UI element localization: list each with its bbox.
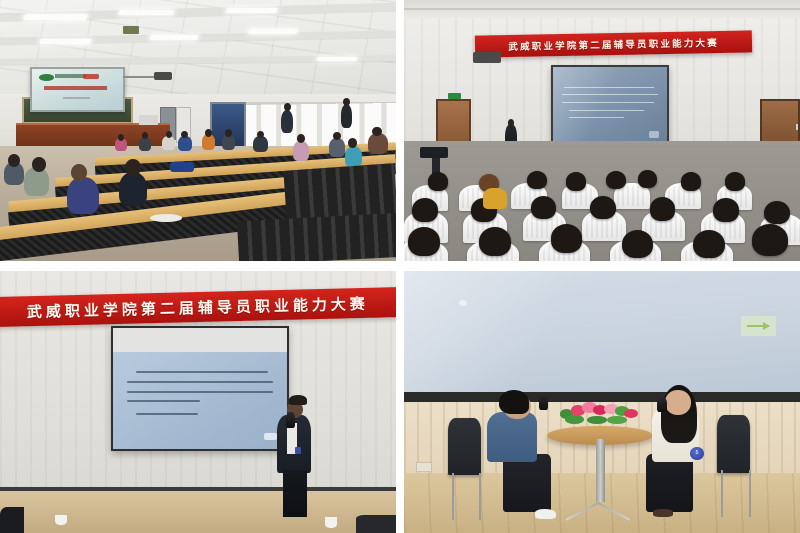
- person-head: [348, 138, 357, 147]
- presenter-legs: [283, 470, 307, 517]
- projector-arm: [123, 76, 159, 78]
- ceiling-line: [404, 8, 800, 10]
- chair-leg: [749, 470, 751, 517]
- college-logo-icon: [39, 74, 54, 81]
- ceiling-lamp: [118, 10, 175, 15]
- audience-head: [764, 201, 790, 224]
- projection-screen: [30, 67, 125, 113]
- table-pedestal: [596, 439, 605, 502]
- scene-role-play-interview: 5: [404, 271, 800, 533]
- contestant-number-text: 5: [696, 450, 699, 456]
- flower-arrangement: [554, 398, 645, 429]
- seated-student: [293, 141, 309, 161]
- ceiling-lamp: [39, 39, 92, 44]
- audience-head: [681, 172, 701, 190]
- audience-head: [622, 230, 654, 259]
- person-head: [8, 154, 20, 167]
- projection-screen: [551, 65, 670, 145]
- audience-head: [693, 230, 725, 259]
- seated-student: [253, 136, 267, 153]
- audience-head: [412, 198, 438, 221]
- slide-text-line: [562, 94, 658, 95]
- ceiling-sign-icon: [123, 26, 139, 34]
- door-window: [796, 124, 798, 130]
- audience-head: [752, 224, 788, 255]
- slide-body: [113, 352, 287, 448]
- exit-sign-icon: [448, 93, 462, 99]
- microphone-left: [539, 394, 549, 410]
- slide-title-text: [44, 86, 108, 90]
- backpack: [170, 162, 194, 172]
- ceiling-lamp: [150, 35, 199, 40]
- wall-socket: [416, 462, 432, 472]
- event-banner-text: 武威职业学院第二届辅导员职业能力大赛: [27, 292, 369, 321]
- audience-head: [428, 172, 448, 190]
- person-head: [32, 157, 46, 172]
- participant-right-legs: [646, 454, 694, 512]
- slide-text-line: [569, 117, 624, 118]
- ceiling-lamp: [249, 29, 298, 34]
- chair-left: [448, 418, 482, 476]
- seated-student: [329, 138, 345, 156]
- audience-head: [479, 227, 511, 256]
- audience-yellow-top: [483, 188, 507, 209]
- slide-text-line: [127, 391, 273, 393]
- photo-panel-bottom-right: 5: [404, 271, 800, 533]
- audience-head: [713, 198, 739, 221]
- slide-text-line: [562, 102, 654, 103]
- foreground-silhouette: [356, 515, 396, 533]
- audience-head: [725, 172, 745, 190]
- audience-head: [408, 227, 440, 256]
- audience-head: [566, 172, 586, 190]
- slide-text-line: [127, 381, 273, 383]
- ceiling-lamp: [225, 8, 278, 13]
- person-head: [343, 98, 350, 106]
- slide-text-line: [564, 87, 654, 88]
- seated-student: [67, 177, 99, 214]
- seated-student: [202, 134, 215, 150]
- projector: [154, 72, 172, 80]
- audience-head: [638, 170, 658, 188]
- seated-student: [119, 172, 147, 206]
- person-head: [118, 134, 124, 141]
- paper-cup: [55, 515, 67, 525]
- slide-logo-icon: [649, 131, 659, 138]
- screen-header-band: [113, 328, 287, 352]
- stage-floor: [0, 491, 396, 533]
- slide-badge: [83, 74, 99, 80]
- participant-left-body: [487, 412, 537, 462]
- slide-subtitle-text: [63, 97, 90, 99]
- seated-student: [139, 137, 152, 151]
- audience-head: [531, 196, 557, 219]
- person-head: [205, 129, 212, 137]
- seated-student: [368, 133, 388, 154]
- person-head: [166, 131, 173, 138]
- seated-student: [222, 134, 235, 150]
- chair-leg: [479, 473, 481, 520]
- microphone-right: [657, 397, 667, 413]
- photo-collage: 武威职业学院第二届辅导员职业能力大赛: [0, 0, 800, 533]
- scene-presenter-on-stage: 武威职业学院第二届辅导员职业能力大赛: [0, 271, 396, 533]
- participant-left-legs: [503, 454, 551, 512]
- foreground-silhouette: [0, 507, 24, 533]
- flower-leaf: [607, 416, 627, 425]
- participant-left-shoe: [535, 509, 557, 518]
- photo-panel-top-right: 武威职业学院第二届辅导员职业能力大赛: [404, 0, 800, 261]
- paper-cup: [325, 517, 337, 527]
- seated-student: [162, 136, 175, 150]
- ceiling-lamp: [23, 14, 88, 20]
- flower-leaf: [587, 416, 607, 425]
- participant-right-head: [665, 390, 691, 415]
- photo-panel-top-left: [0, 0, 396, 261]
- presenter-hair: [289, 395, 306, 404]
- scene-auditorium-presentation: 武威职业学院第二届辅导员职业能力大赛: [404, 0, 800, 261]
- speaker-head: [508, 119, 515, 127]
- ceiling-lamp: [316, 57, 357, 61]
- chair-right: [717, 415, 751, 473]
- audience-head: [606, 171, 626, 189]
- flower-leaf: [565, 415, 583, 424]
- audience-head: [551, 224, 583, 253]
- audience-head: [527, 171, 547, 189]
- event-banner-text: 武威职业学院第二届辅导员职业能力大赛: [508, 35, 719, 53]
- paper-sheet: [150, 214, 182, 222]
- person-head: [225, 129, 232, 137]
- photo-panel-bottom-left: 武威职业学院第二届辅导员职业能力大赛: [0, 271, 396, 533]
- slide-heading: [55, 74, 86, 77]
- audience-head: [650, 197, 676, 220]
- participant-left-hair: [499, 390, 529, 414]
- arrow-right-icon: [741, 316, 777, 337]
- ceiling-projector: [473, 52, 501, 62]
- microphone: [286, 412, 296, 428]
- slide-text-line: [569, 110, 645, 111]
- scene-classroom-written-test: [0, 0, 396, 261]
- participant-right-shoe: [653, 509, 673, 517]
- contestant-number-badge: 5: [690, 447, 703, 460]
- lectern: [139, 115, 159, 125]
- slide-text-line: [127, 400, 200, 402]
- chair-row: [237, 212, 396, 261]
- seated-student: [345, 146, 363, 167]
- flower-bloom: [624, 409, 639, 418]
- audience-head: [590, 196, 616, 219]
- person-head: [333, 132, 341, 140]
- person-head: [372, 127, 382, 137]
- projection-screen: [111, 326, 289, 451]
- slide-logo-icon: [264, 433, 276, 440]
- person-head: [125, 159, 141, 176]
- standing-person: [341, 104, 353, 127]
- slide-text-line: [136, 413, 199, 415]
- person-head: [284, 103, 291, 111]
- video-camera: [420, 147, 448, 157]
- chair-leg: [721, 470, 723, 517]
- slide-text-line: [136, 371, 268, 373]
- chair-leg: [452, 473, 454, 520]
- presenter-badge: [295, 447, 301, 455]
- standing-person: [281, 110, 293, 133]
